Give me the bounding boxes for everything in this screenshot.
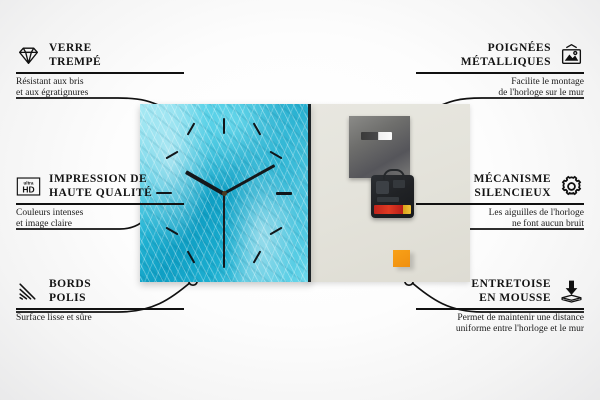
feature-entretoise-en-mousse: ENTRETOISE EN MOUSSE Permet de maintenir… xyxy=(394,278,584,336)
feature-divider xyxy=(416,203,584,205)
feature-title: ENTRETOISE EN MOUSSE xyxy=(471,278,551,305)
wall-mount-frame-icon xyxy=(559,43,584,68)
feature-divider xyxy=(16,308,184,310)
feature-subtitle: Les aiguilles de l'horloge ne font aucun… xyxy=(394,208,584,231)
feature-title: MÉCANISME SILENCIEUX xyxy=(474,173,551,200)
feature-title: IMPRESSION DE HAUTE QUALITÉ xyxy=(49,173,152,200)
feature-subtitle: Permet de maintenir une distance uniform… xyxy=(394,313,584,336)
feature-title: POIGNÉES MÉTALLIQUES xyxy=(461,42,551,69)
feature-mecanisme-silencieux: MÉCANISME SILENCIEUX Les aiguilles de l'… xyxy=(394,173,584,231)
feature-subtitle: Surface lisse et sûre xyxy=(16,313,206,325)
gear-icon xyxy=(559,174,584,199)
foam-spacer-arrow-icon xyxy=(559,279,584,304)
infographic-canvas: VERRE TREMPÉ Résistant aux bris et aux é… xyxy=(0,0,600,400)
polished-edges-icon xyxy=(16,279,41,304)
metal-hanger-plate xyxy=(349,116,410,178)
clock-tick xyxy=(223,118,225,134)
feature-subtitle: Résistant aux bris et aux égratignures xyxy=(16,77,206,100)
feature-poignees-metalliques: POIGNÉES MÉTALLIQUES Facilite le montage… xyxy=(394,42,584,100)
feature-title: BORDS POLIS xyxy=(49,278,91,305)
feature-verre-trempe: VERRE TREMPÉ Résistant aux bris et aux é… xyxy=(16,42,206,100)
feature-title: VERRE TREMPÉ xyxy=(49,42,101,69)
mechanism-detail xyxy=(376,181,389,194)
feature-bords-polis: BORDS POLIS Surface lisse et sûre xyxy=(16,278,206,324)
hanger-slot xyxy=(361,132,392,140)
feature-divider xyxy=(416,72,584,74)
feature-subtitle: Facilite le montage de l'horloge sur le … xyxy=(394,77,584,100)
clock-centre-cap xyxy=(222,191,227,196)
feature-impression-haute-qualite: ultra HD IMPRESSION DE HAUTE QUALITÉ Cou… xyxy=(16,173,206,231)
feature-divider xyxy=(16,203,184,205)
feature-divider xyxy=(16,72,184,74)
clock-tick xyxy=(276,192,292,195)
ultra-hd-icon: ultra HD xyxy=(16,174,41,199)
foam-spacer xyxy=(393,250,410,267)
svg-text:HD: HD xyxy=(22,185,34,195)
feature-divider xyxy=(416,308,584,310)
feature-subtitle: Couleurs intenses et image claire xyxy=(16,208,206,231)
diamond-icon xyxy=(16,43,41,68)
clock-second-hand xyxy=(223,193,224,255)
